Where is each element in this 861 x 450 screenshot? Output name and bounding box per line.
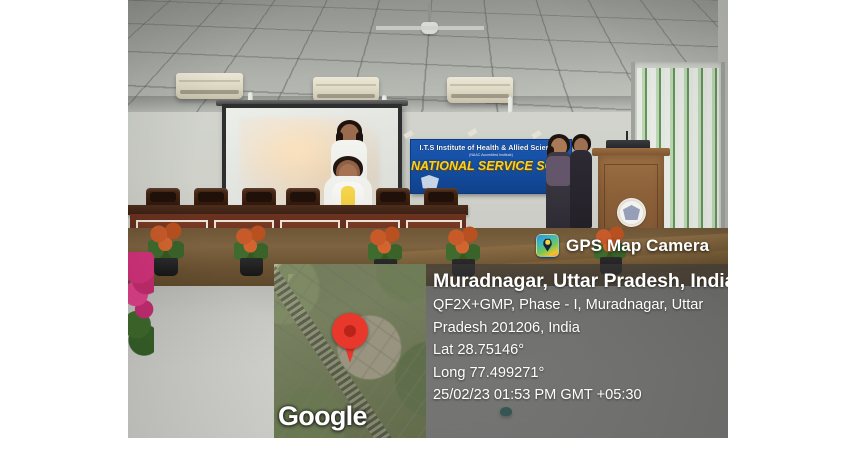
gps-map-camera-logo-icon [536, 234, 559, 257]
screenshot-canvas: I.T.S Institute of Health & Allied Scien… [0, 0, 861, 450]
pink-flowers [128, 252, 154, 362]
right-person-scarf [546, 156, 572, 186]
logo-pin-icon [542, 238, 553, 252]
ceiling-fan-blade-left [376, 26, 430, 30]
gps-camera-photo: I.T.S Institute of Health & Allied Scien… [128, 0, 728, 438]
air-conditioner-center [313, 77, 379, 102]
plant-pot-1 [154, 258, 178, 276]
air-conditioner-right [447, 77, 513, 103]
google-watermark: Google [278, 401, 367, 432]
gps-map-camera-watermark: GPS Map Camera [536, 234, 709, 257]
plant-pot-2 [240, 258, 263, 276]
longitude-value: Long 77.499271° [433, 362, 728, 385]
air-conditioner-left [176, 73, 243, 99]
map-pin-center-dot [344, 325, 356, 337]
gps-map-camera-label: GPS Map Camera [566, 236, 709, 256]
location-info-text: Muradnagar, Uttar Pradesh, India QF2X+GM… [433, 269, 728, 407]
banner-institute-logo-icon [421, 175, 439, 189]
map-thumbnail[interactable]: Google [274, 264, 426, 438]
ceiling-fan-blade-right [430, 26, 484, 30]
location-title: Muradnagar, Uttar Pradesh, India [433, 269, 728, 294]
podium-emblem-icon [617, 198, 646, 227]
address-line-1: QF2X+GMP, Phase - I, Muradnagar, Uttar [433, 294, 728, 317]
address-line-2: Pradesh 201206, India [433, 317, 728, 340]
ac-pipe-right [508, 96, 513, 113]
latitude-value: Lat 28.75146° [433, 339, 728, 362]
map-pin-icon [332, 313, 368, 363]
window-frame-right [721, 62, 725, 252]
timestamp-value: 25/02/23 01:53 PM GMT +05:30 [433, 384, 728, 407]
location-info-overlay: Muradnagar, Uttar Pradesh, India QF2X+GM… [426, 264, 728, 438]
far-right-person-body [570, 150, 592, 228]
